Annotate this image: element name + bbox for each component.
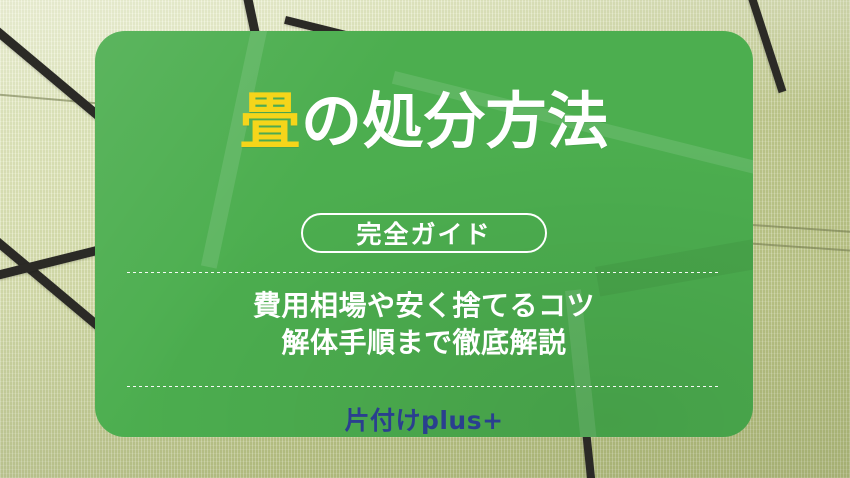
status-badge-label: 完全ガイド (356, 215, 491, 251)
page-subtitle: 費用相場や安く捨てるコツ 解体手順まで徹底解説 (253, 287, 595, 362)
green-content-card: 畳の処分方法 完全ガイド 費用相場や安く捨てるコツ 解体手順まで徹底解説 片付け… (95, 31, 753, 437)
brand-name: 片付けplus+ (344, 401, 503, 437)
divider-top (127, 272, 721, 273)
page-subtitle-line-2: 解体手順まで徹底解説 (253, 324, 595, 362)
page-title-rest: の処分方法 (301, 86, 609, 157)
divider-bottom (127, 386, 721, 387)
page-title-accent: 畳 (239, 86, 301, 157)
hero-banner: 畳の処分方法 完全ガイド 費用相場や安く捨てるコツ 解体手順まで徹底解説 片付け… (0, 0, 850, 478)
page-subtitle-line-1: 費用相場や安く捨てるコツ (253, 287, 595, 325)
card-content: 畳の処分方法 完全ガイド 費用相場や安く捨てるコツ 解体手順まで徹底解説 片付け… (95, 31, 753, 437)
status-badge: 完全ガイド (301, 213, 547, 253)
page-title: 畳の処分方法 (239, 91, 608, 152)
